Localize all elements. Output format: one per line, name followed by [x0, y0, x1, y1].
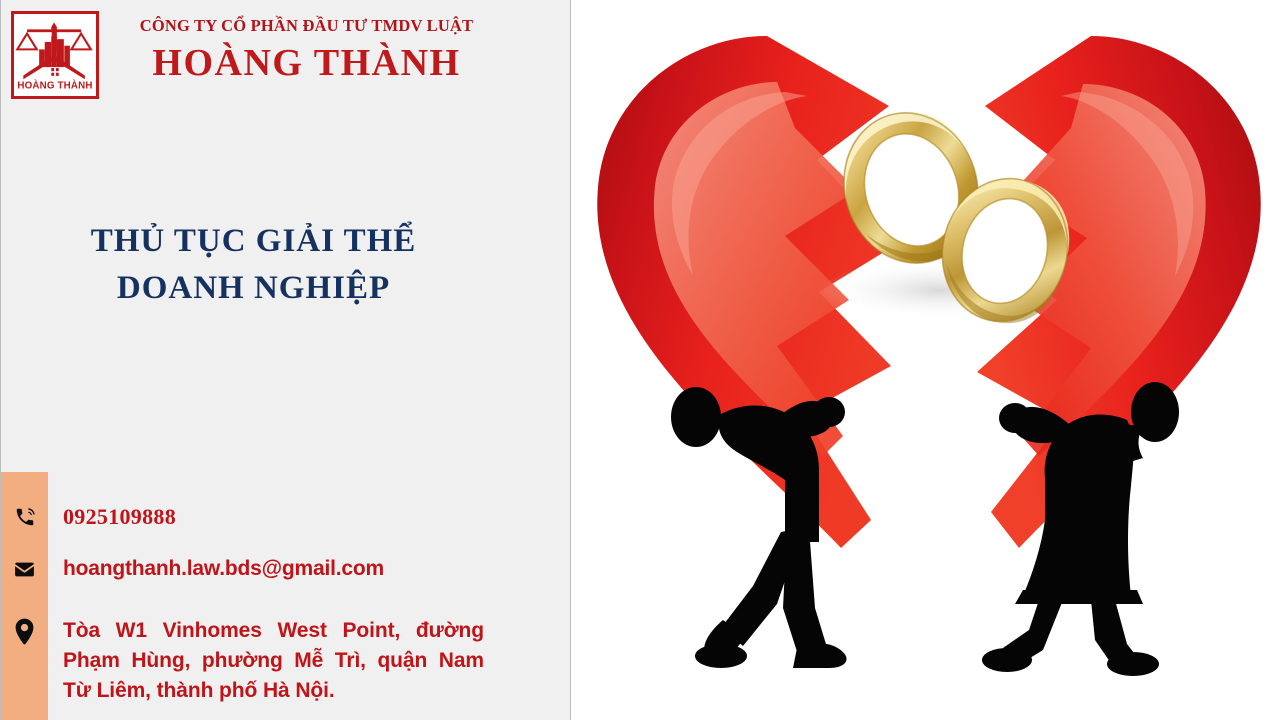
contact-row-email[interactable]: hoangthanh.law.bds@gmail.com: [1, 556, 384, 582]
email-address[interactable]: hoangthanh.law.bds@gmail.com: [48, 556, 384, 582]
contact-row-phone[interactable]: 0925109888: [1, 504, 176, 530]
poster-canvas: HOÀNG THÀNH CÔNG TY CỔ PHẦN ĐẦU TƯ TMDV …: [0, 0, 1280, 720]
headline-line-2: DOANH NGHIỆP: [1, 265, 506, 312]
logo-mark-icon: HOÀNG THÀNH: [14, 14, 96, 96]
company-short-name: HOÀNG THÀNH: [103, 37, 510, 88]
envelope-icon: [1, 556, 48, 582]
phone-icon: [1, 504, 48, 530]
brand-header: HOÀNG THÀNH CÔNG TY CỔ PHẦN ĐẦU TƯ TMDV …: [1, 0, 572, 112]
artwork-panel: [571, 0, 1280, 720]
left-info-panel: HOÀNG THÀNH CÔNG TY CỔ PHẦN ĐẦU TƯ TMDV …: [0, 0, 571, 720]
address-line-3: Từ Liêm, thành phố Hà Nội.: [63, 676, 484, 706]
brand-text-block: CÔNG TY CỔ PHẦN ĐẦU TƯ TMDV LUẬT HOÀNG T…: [99, 8, 572, 88]
address-line-2: Phạm Hùng, phường Mễ Trì, quận Nam: [63, 646, 484, 676]
phone-number[interactable]: 0925109888: [48, 504, 176, 530]
address-line-1: Tòa W1 Vinhomes West Point, đường: [63, 616, 484, 646]
company-logo: HOÀNG THÀNH: [11, 11, 99, 99]
contact-list: 0925109888 hoangthanh.law.bds@gmail.com: [1, 472, 572, 720]
svg-text:HOÀNG THÀNH: HOÀNG THÀNH: [17, 80, 92, 92]
poster-headline: THỦ TỤC GIẢI THỂ DOANH NGHIỆP: [1, 218, 506, 312]
headline-line-1: THỦ TỤC GIẢI THỂ: [91, 223, 417, 259]
location-pin-icon: [1, 616, 48, 646]
address-text[interactable]: Tòa W1 Vinhomes West Point, đường Phạm H…: [48, 616, 484, 706]
contact-row-address[interactable]: Tòa W1 Vinhomes West Point, đường Phạm H…: [1, 616, 572, 706]
company-legal-name: CÔNG TY CỔ PHẦN ĐẦU TƯ TMDV LUẬT: [103, 8, 510, 37]
broken-heart-illustration: [571, 0, 1280, 720]
broken-heart-with-rings-svg: [571, 0, 1280, 720]
